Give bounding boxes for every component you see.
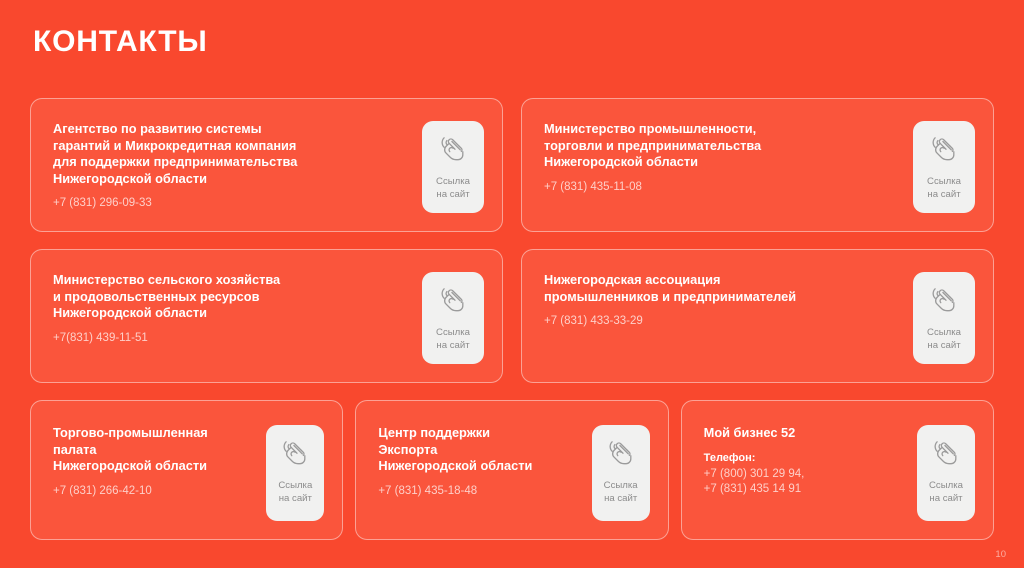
organization-name: Агентство по развитию системы гарантий и…	[53, 121, 297, 187]
phone-number: +7 (831) 433-33-29	[544, 314, 796, 330]
site-link-label: Ссылка на сайт	[278, 480, 312, 505]
site-link-label: Ссылка на сайт	[927, 327, 961, 352]
contacts-row-1: Агентство по развитию системы гарантий и…	[30, 98, 994, 232]
contact-card-text: Мой бизнес 52 Телефон: +7 (800) 301 29 9…	[704, 425, 815, 498]
contact-card[interactable]: Министерство промышленности, торговли и …	[521, 98, 994, 232]
phone-number: +7 (831) 296-09-33	[53, 196, 297, 212]
page-title: КОНТАКТЫ	[33, 27, 208, 57]
contact-card-text: Торгово-промышленная палата Нижегородско…	[53, 425, 218, 499]
organization-name: Нижегородская ассоциация промышленников …	[544, 272, 796, 305]
contact-card-text: Министерство промышленности, торговли и …	[544, 121, 771, 195]
site-link-button[interactable]: Ссылка на сайт	[266, 425, 324, 521]
contact-card[interactable]: Мой бизнес 52 Телефон: +7 (800) 301 29 9…	[681, 400, 994, 540]
page-number: 10	[995, 549, 1006, 560]
contact-card-text: Центр поддержки Экспорта Нижегородской о…	[378, 425, 542, 499]
site-link-label: Ссылка на сайт	[604, 480, 638, 505]
tap-hand-icon	[927, 283, 961, 317]
contact-card[interactable]: Нижегородская ассоциация промышленников …	[521, 249, 994, 383]
contact-card[interactable]: Агентство по развитию системы гарантий и…	[30, 98, 503, 232]
phone-number: +7(831) 439-11-51	[53, 331, 280, 347]
slide-contacts: { "slide": { "title": "КОНТАКТЫ", "page_…	[0, 0, 1024, 568]
contacts-grid: Агентство по развитию системы гарантий и…	[30, 98, 994, 540]
tap-hand-icon	[604, 436, 638, 470]
site-link-button[interactable]: Ссылка на сайт	[422, 272, 484, 364]
phone-number: +7 (831) 266-42-10	[53, 484, 208, 500]
phone-label: Телефон:	[704, 451, 805, 466]
site-link-button[interactable]: Ссылка на сайт	[422, 121, 484, 213]
contact-card-text: Нижегородская ассоциация промышленников …	[544, 272, 806, 330]
organization-name: Центр поддержки Экспорта Нижегородской о…	[378, 425, 532, 475]
organization-name: Министерство промышленности, торговли и …	[544, 121, 761, 171]
site-link-label: Ссылка на сайт	[927, 176, 961, 201]
contact-card[interactable]: Торгово-промышленная палата Нижегородско…	[30, 400, 343, 540]
tap-hand-icon	[436, 132, 470, 166]
contact-card-text: Министерство сельского хозяйства и продо…	[53, 272, 290, 346]
contact-card[interactable]: Министерство сельского хозяйства и продо…	[30, 249, 503, 383]
organization-name: Министерство сельского хозяйства и продо…	[53, 272, 280, 322]
site-link-label: Ссылка на сайт	[436, 327, 470, 352]
tap-hand-icon	[927, 132, 961, 166]
phone-number: +7 (831) 435-18-48	[378, 484, 532, 500]
site-link-button[interactable]: Ссылка на сайт	[592, 425, 650, 521]
contact-card[interactable]: Центр поддержки Экспорта Нижегородской о…	[355, 400, 668, 540]
contacts-row-3: Торгово-промышленная палата Нижегородско…	[30, 400, 994, 540]
contact-card-text: Агентство по развитию системы гарантий и…	[53, 121, 307, 212]
tap-hand-icon	[278, 436, 312, 470]
phone-number: +7 (800) 301 29 94, +7 (831) 435 14 91	[704, 467, 805, 498]
site-link-label: Ссылка на сайт	[436, 176, 470, 201]
organization-name: Торгово-промышленная палата Нижегородско…	[53, 425, 208, 475]
site-link-label: Ссылка на сайт	[929, 480, 963, 505]
site-link-button[interactable]: Ссылка на сайт	[917, 425, 975, 521]
site-link-button[interactable]: Ссылка на сайт	[913, 272, 975, 364]
site-link-button[interactable]: Ссылка на сайт	[913, 121, 975, 213]
organization-name: Мой бизнес 52	[704, 425, 805, 442]
contacts-row-2: Министерство сельского хозяйства и продо…	[30, 249, 994, 383]
tap-hand-icon	[436, 283, 470, 317]
phone-number: +7 (831) 435-11-08	[544, 180, 761, 196]
tap-hand-icon	[929, 436, 963, 470]
